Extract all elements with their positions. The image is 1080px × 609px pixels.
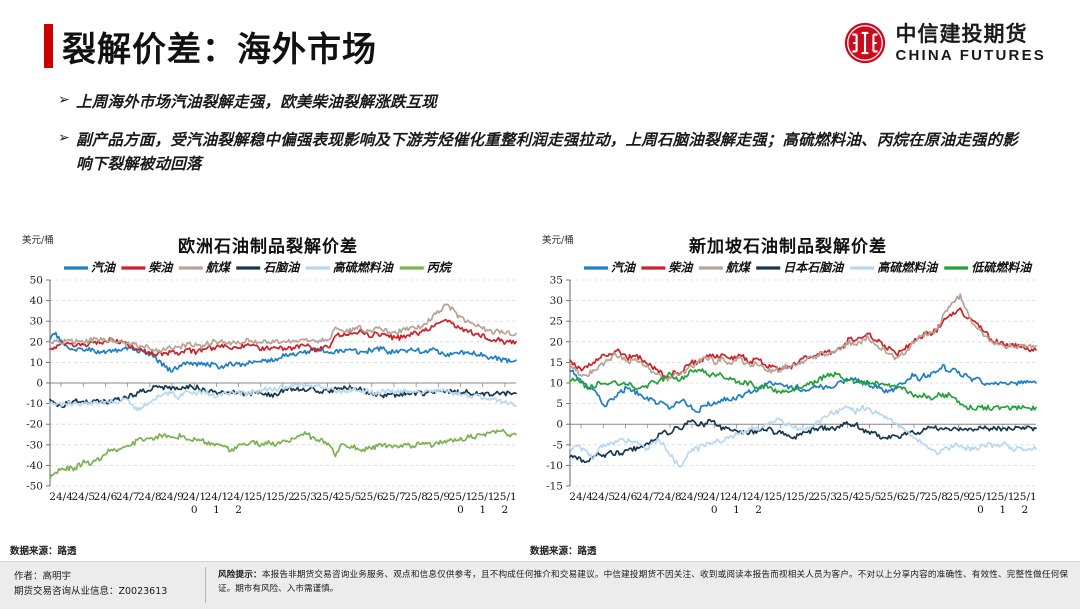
svg-text:25/1: 25/1 — [769, 491, 793, 503]
svg-text:2: 2 — [1022, 504, 1029, 516]
svg-text:24/6: 24/6 — [614, 491, 638, 503]
svg-text:30: 30 — [550, 295, 563, 307]
svg-text:24/6: 24/6 — [94, 491, 118, 503]
svg-text:0: 0 — [711, 504, 718, 516]
svg-text:24/7: 24/7 — [636, 491, 660, 503]
svg-text:20: 20 — [30, 336, 43, 348]
svg-text:航煤: 航煤 — [725, 261, 752, 275]
svg-text:25/3: 25/3 — [293, 491, 317, 503]
svg-text:24/5: 24/5 — [71, 491, 95, 503]
svg-text:24/1: 24/1 — [725, 491, 749, 503]
svg-text:25/6: 25/6 — [360, 491, 384, 503]
svg-text:丙烷: 丙烷 — [427, 261, 453, 275]
svg-text:40: 40 — [30, 295, 43, 307]
svg-text:-10: -10 — [546, 460, 563, 472]
svg-text:1: 1 — [213, 504, 220, 516]
svg-text:柴油: 柴油 — [148, 261, 174, 275]
chart-canvas-europe: 50403020100-10-20-30-40-5024/424/524/624… — [8, 250, 528, 538]
svg-text:5: 5 — [556, 398, 563, 410]
svg-text:24/8: 24/8 — [138, 491, 162, 503]
title-accent-bar — [44, 24, 53, 68]
svg-text:2: 2 — [502, 504, 509, 516]
svg-text:石脑油: 石脑油 — [263, 261, 301, 275]
footer-risk-label: 风险提示： — [218, 570, 262, 580]
svg-text:0: 0 — [457, 504, 464, 516]
svg-text:0: 0 — [556, 419, 563, 431]
cmc-logo-icon — [844, 22, 886, 64]
svg-text:24/1: 24/1 — [702, 491, 726, 503]
bullet-text-2: 副产品方面，受汽油裂解稳中偏强表现影响及下游芳烃催化重整利润走强拉动，上周石脑油… — [76, 128, 1033, 176]
svg-text:24/9: 24/9 — [160, 491, 184, 503]
svg-text:24/7: 24/7 — [116, 491, 140, 503]
svg-text:25/1: 25/1 — [991, 491, 1015, 503]
page-footer: 作者：高明宇 期货交易咨询从业信息：Z0023613 风险提示：本报告非期货交易… — [0, 561, 1080, 609]
svg-text:20: 20 — [550, 336, 563, 348]
svg-text:35: 35 — [550, 275, 563, 287]
footer-risk-text: 本报告非期货交易咨询业务服务、观点和信息仅供参考，且不构成任何推介和交易建议。中… — [218, 570, 1068, 594]
svg-text:24/1: 24/1 — [227, 491, 251, 503]
chart-panel-europe: 美元/桶 欧洲石油制品裂解价差 50403020100-10-20-30-40-… — [8, 228, 528, 538]
svg-text:1: 1 — [479, 504, 486, 516]
bullet-list: ➢ 上周海外市场汽油裂解走强，欧美柴油裂解涨跌互现 ➢ 副产品方面，受汽油裂解稳… — [58, 90, 1033, 190]
svg-text:25/3: 25/3 — [813, 491, 837, 503]
source-label-singapore: 数据来源：路透 — [530, 543, 597, 557]
svg-text:24/5: 24/5 — [591, 491, 615, 503]
page-header: 裂解价差：海外市场 中信建投期货 CHINA FUTURES — [0, 0, 1080, 82]
arrow-bullet-icon: ➢ — [58, 90, 76, 112]
svg-text:0: 0 — [977, 504, 984, 516]
svg-text:25/1: 25/1 — [449, 491, 473, 503]
bullet-item-2: ➢ 副产品方面，受汽油裂解稳中偏强表现影响及下游芳烃催化重整利润走强拉动，上周石… — [58, 128, 1033, 176]
svg-text:低硫燃料油: 低硫燃料油 — [971, 261, 1033, 275]
svg-text:25/7: 25/7 — [382, 491, 406, 503]
svg-text:1: 1 — [733, 504, 740, 516]
logo-chinese-name: 中信建投期货 — [895, 24, 1046, 45]
svg-text:-50: -50 — [26, 481, 43, 493]
svg-text:-40: -40 — [26, 460, 43, 472]
svg-text:25/9: 25/9 — [947, 491, 971, 503]
svg-text:25/5: 25/5 — [338, 491, 362, 503]
svg-text:高硫燃料油: 高硫燃料油 — [333, 261, 395, 275]
svg-text:25/1: 25/1 — [1013, 491, 1037, 503]
chart-canvas-singapore: 35302520151050-5-10-1524/424/524/624/724… — [528, 250, 1048, 538]
svg-text:24/1: 24/1 — [747, 491, 771, 503]
chart-panel-singapore: 美元/桶 新加坡石油制品裂解价差 35302520151050-5-10-152… — [528, 228, 1048, 538]
svg-text:-20: -20 — [26, 419, 43, 431]
footer-author-license: 期货交易咨询从业信息：Z0023613 — [14, 585, 167, 600]
svg-text:25/1: 25/1 — [249, 491, 273, 503]
svg-text:50: 50 — [30, 275, 43, 287]
footer-risk-disclaimer: 风险提示：本报告非期货交易咨询业务服务、观点和信息仅供参考，且不构成任何推介和交… — [218, 569, 1068, 597]
svg-text:日本石脑油: 日本石脑油 — [783, 261, 845, 275]
company-logo: 中信建投期货 CHINA FUTURES — [844, 22, 1046, 64]
source-label-europe: 数据来源：路透 — [10, 543, 77, 557]
arrow-bullet-icon: ➢ — [58, 128, 76, 150]
svg-text:10: 10 — [30, 357, 43, 369]
svg-text:高硫燃料油: 高硫燃料油 — [877, 261, 939, 275]
svg-text:柴油: 柴油 — [668, 261, 694, 275]
page-title: 裂解价差：海外市场 — [62, 22, 377, 71]
svg-text:2: 2 — [755, 504, 762, 516]
svg-text:24/4: 24/4 — [49, 491, 73, 503]
svg-text:24/9: 24/9 — [680, 491, 704, 503]
svg-text:25/7: 25/7 — [902, 491, 926, 503]
svg-text:-10: -10 — [26, 398, 43, 410]
svg-text:0: 0 — [191, 504, 198, 516]
svg-text:24/1: 24/1 — [182, 491, 206, 503]
svg-text:0: 0 — [36, 378, 43, 390]
bullet-text-1: 上周海外市场汽油裂解走强，欧美柴油裂解涨跌互现 — [76, 90, 437, 114]
svg-text:25/1: 25/1 — [969, 491, 993, 503]
svg-text:24/8: 24/8 — [658, 491, 682, 503]
logo-english-name: CHINA FUTURES — [895, 48, 1046, 63]
svg-text:25/8: 25/8 — [924, 491, 948, 503]
svg-text:-30: -30 — [26, 439, 43, 451]
svg-text:25/1: 25/1 — [471, 491, 495, 503]
svg-text:25/6: 25/6 — [880, 491, 904, 503]
svg-text:30: 30 — [30, 316, 43, 328]
svg-text:-15: -15 — [546, 481, 563, 493]
svg-text:航煤: 航煤 — [205, 261, 232, 275]
svg-text:25/8: 25/8 — [404, 491, 428, 503]
svg-text:15: 15 — [550, 357, 563, 369]
svg-text:25/1: 25/1 — [493, 491, 517, 503]
bullet-item-1: ➢ 上周海外市场汽油裂解走强，欧美柴油裂解涨跌互现 — [58, 90, 1033, 114]
logo-wordmark: 中信建投期货 CHINA FUTURES — [895, 24, 1046, 63]
svg-text:汽油: 汽油 — [91, 261, 117, 275]
svg-text:25/2: 25/2 — [791, 491, 815, 503]
svg-text:25/5: 25/5 — [858, 491, 882, 503]
svg-text:25: 25 — [550, 316, 563, 328]
footer-author-block: 作者：高明宇 期货交易咨询从业信息：Z0023613 — [14, 570, 167, 599]
svg-text:25/4: 25/4 — [836, 491, 860, 503]
svg-text:10: 10 — [550, 378, 563, 390]
svg-text:25/9: 25/9 — [427, 491, 451, 503]
svg-text:25/2: 25/2 — [271, 491, 295, 503]
footer-author-name: 作者：高明宇 — [14, 570, 167, 585]
svg-text:汽油: 汽油 — [611, 261, 637, 275]
svg-text:-5: -5 — [553, 439, 563, 451]
svg-text:25/4: 25/4 — [316, 491, 340, 503]
footer-divider — [205, 567, 206, 603]
svg-text:24/4: 24/4 — [569, 491, 593, 503]
svg-text:2: 2 — [235, 504, 242, 516]
svg-text:24/1: 24/1 — [205, 491, 229, 503]
svg-text:1: 1 — [999, 504, 1006, 516]
